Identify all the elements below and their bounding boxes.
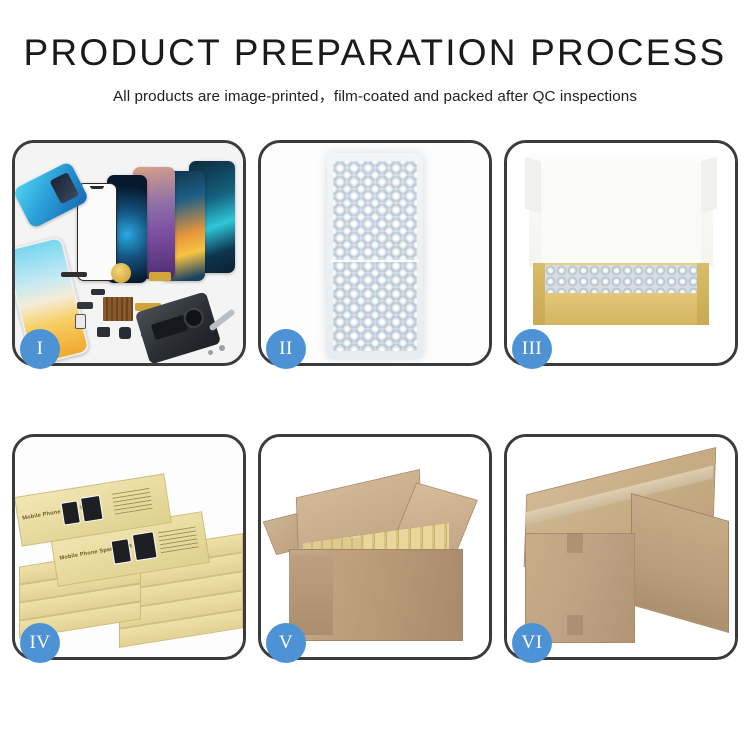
step-3-image	[507, 143, 735, 363]
mailer-tray-front	[533, 293, 709, 325]
mailer-tray-right-wall	[697, 263, 709, 325]
page-title: PRODUCT PREPARATION PROCESS	[0, 34, 750, 73]
page-header: PRODUCT PREPARATION PROCESS All products…	[0, 0, 750, 106]
part-screw-1	[219, 345, 225, 351]
part-small-4	[119, 327, 131, 339]
bubble-wrap-pouch	[327, 153, 423, 359]
step-1-image	[15, 143, 243, 363]
process-step-panel-4[interactable]: Mobile Phone Spare Parts Mobile Phone Sp…	[12, 434, 246, 660]
mailer-tray-left-wall	[533, 263, 545, 325]
step-badge-6: VI	[512, 623, 552, 663]
box-window-front-2	[132, 531, 158, 561]
step-badge-5: V	[266, 623, 306, 663]
sealed-carton-scene	[507, 437, 735, 657]
process-step-panel-3[interactable]: III	[504, 140, 738, 366]
box-spec-lines-front	[158, 526, 199, 554]
step-4-image: Mobile Phone Spare Parts Mobile Phone Sp…	[15, 437, 243, 657]
bubble-pattern-row-b	[333, 161, 417, 351]
part-small-6	[91, 289, 105, 295]
sealed-carton-side	[631, 493, 729, 633]
part-board-chip	[151, 315, 188, 340]
carton-body-left	[289, 555, 333, 635]
mailer-lid-fold-left	[525, 157, 541, 214]
mailer-bubble-contents	[545, 265, 697, 293]
box-window-front-1	[111, 538, 133, 565]
mailer-inner-liner	[541, 195, 701, 271]
part-flex-cable-1	[149, 272, 171, 281]
phone-back-camera-module	[50, 172, 80, 204]
step-5-image	[261, 437, 489, 657]
part-screw-2	[208, 350, 213, 355]
phone-parts-scene	[15, 143, 243, 363]
process-step-panel-1[interactable]: I	[12, 140, 246, 366]
part-small-3	[97, 327, 110, 337]
process-steps-grid: I II	[12, 140, 738, 660]
process-step-panel-2[interactable]: II	[258, 140, 492, 366]
process-step-panel-5[interactable]: V	[258, 434, 492, 660]
phone-notch	[90, 186, 104, 189]
box-spec-lines-back	[112, 487, 153, 515]
box-window-back-1	[61, 500, 81, 525]
stacked-boxes-scene: Mobile Phone Spare Parts Mobile Phone Sp…	[15, 437, 243, 657]
step-6-image	[507, 437, 735, 657]
step-badge-2: II	[266, 329, 306, 369]
part-chip-array	[103, 297, 133, 321]
mailer-lid-fold-right	[701, 157, 717, 214]
sealed-carton-seam-bottom	[567, 615, 583, 635]
part-connector-strip	[61, 272, 87, 277]
box-window-back-2	[80, 495, 104, 523]
kraft-mailer-scene	[507, 143, 735, 363]
bubble-wrap-scene	[261, 143, 489, 363]
process-step-panel-6[interactable]: VI	[504, 434, 738, 660]
step-badge-1: I	[20, 329, 60, 369]
sealed-carton-seam-top	[567, 533, 583, 553]
step-badge-4: IV	[20, 623, 60, 663]
box-stack: Mobile Phone Spare Parts Mobile Phone Sp…	[15, 437, 243, 657]
part-small-2	[75, 314, 86, 329]
step-2-image	[261, 143, 489, 363]
part-speaker-coil	[111, 263, 131, 283]
open-carton-scene	[261, 437, 489, 657]
part-small-1	[77, 302, 93, 309]
page-subtitle: All products are image-printed，film-coat…	[0, 84, 750, 106]
bubble-wrap-seam	[331, 260, 419, 262]
step-badge-3: III	[512, 329, 552, 369]
